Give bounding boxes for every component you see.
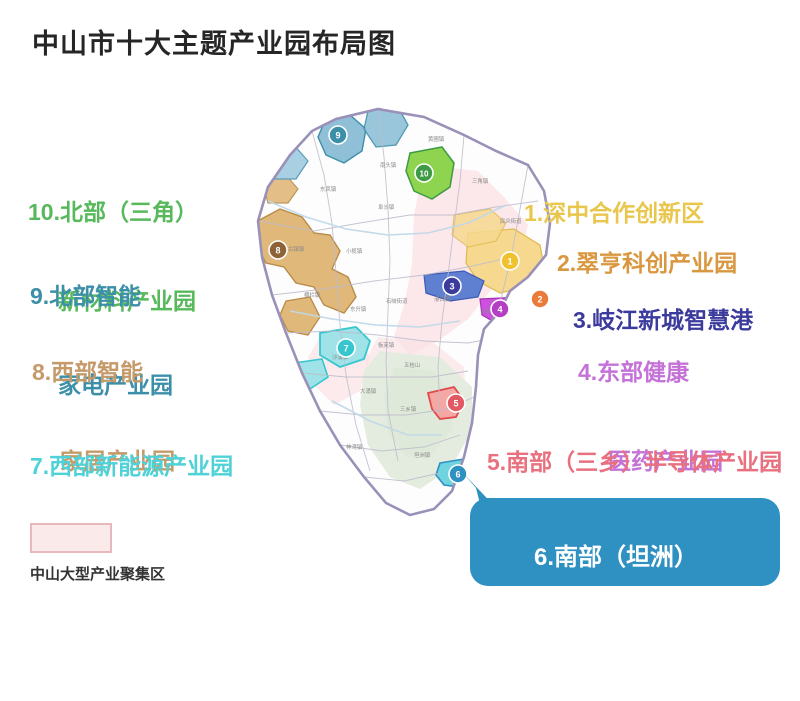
svg-text:东升镇: 东升镇	[350, 305, 367, 313]
svg-text:横栏镇: 横栏镇	[304, 291, 321, 299]
svg-text:8: 8	[275, 246, 280, 256]
svg-text:4: 4	[497, 305, 502, 315]
marker-5[interactable]: 5	[447, 394, 465, 412]
svg-text:1: 1	[507, 257, 512, 267]
svg-text:9: 9	[335, 131, 340, 141]
zone-7-west-newenergy-sub2[interactable]	[280, 387, 314, 417]
page-root: 中山市十大主题产业园布局图	[0, 0, 800, 645]
marker-8[interactable]: 8	[269, 241, 287, 259]
svg-text:三角镇: 三角镇	[472, 177, 489, 185]
svg-text:3: 3	[449, 282, 454, 292]
svg-text:古镇镇: 古镇镇	[288, 245, 305, 253]
svg-text:板芙镇: 板芙镇	[378, 341, 395, 349]
svg-text:民众街道: 民众街道	[500, 217, 522, 225]
svg-text:小榄镇: 小榄镇	[346, 247, 363, 255]
svg-text:坦洲镇: 坦洲镇	[414, 451, 431, 459]
park-label-6-line2: 高端显示产业园	[494, 606, 780, 638]
marker-7[interactable]: 7	[337, 339, 355, 357]
svg-text:7: 7	[343, 344, 348, 354]
svg-text:5: 5	[453, 399, 458, 409]
svg-text:东凤镇: 东凤镇	[320, 185, 337, 193]
zone-4-east-health-sub[interactable]	[486, 329, 516, 351]
park-label-6-line1: 6.南部（坦洲）	[534, 544, 698, 571]
marker-6[interactable]: 6	[449, 465, 467, 483]
svg-text:10: 10	[420, 170, 429, 179]
park-label-7[interactable]: 7.西部新能源产业园	[30, 392, 233, 541]
svg-text:阜沙镇: 阜沙镇	[378, 203, 395, 211]
svg-text:港口镇: 港口镇	[434, 295, 451, 303]
svg-text:五桂山: 五桂山	[404, 361, 420, 369]
svg-text:6: 6	[455, 470, 460, 480]
legend-swatch-cluster	[30, 523, 112, 553]
marker-10[interactable]: 10	[415, 164, 433, 182]
svg-text:黄圃镇: 黄圃镇	[428, 135, 445, 143]
svg-text:南头镇: 南头镇	[380, 161, 397, 169]
marker-1[interactable]: 1	[501, 252, 519, 270]
svg-text:神湾镇: 神湾镇	[346, 443, 363, 451]
marker-2[interactable]: 2	[531, 290, 549, 308]
zone-cyan-sliver	[518, 315, 544, 335]
marker-3[interactable]: 3	[443, 277, 461, 295]
svg-text:2: 2	[537, 295, 542, 305]
park-label-5-line1: 5.南部（三乡）半导体产业园	[487, 448, 782, 478]
marker-4[interactable]: 4	[491, 300, 509, 318]
park-callout-6[interactable]: 6.南部（坦洲） 高端显示产业园	[470, 498, 780, 586]
legend-label-cluster: 中山大型产业聚集区	[30, 563, 165, 584]
page-title: 中山市十大主题产业园布局图	[32, 22, 396, 61]
svg-text:石岐街道: 石岐街道	[386, 297, 408, 305]
svg-text:南朗街道: 南朗街道	[506, 341, 528, 349]
park-label-4-line1: 4.东部健康	[578, 358, 723, 388]
svg-text:三乡镇: 三乡镇	[400, 405, 417, 413]
svg-text:大涌镇: 大涌镇	[360, 387, 377, 395]
legend: 中山大型产业聚集区	[30, 523, 165, 584]
park-label-8-line1: 8.西部智能	[32, 358, 175, 388]
marker-9[interactable]: 9	[329, 126, 347, 144]
park-label-7-line1: 7.西部新能源产业园	[30, 452, 233, 482]
